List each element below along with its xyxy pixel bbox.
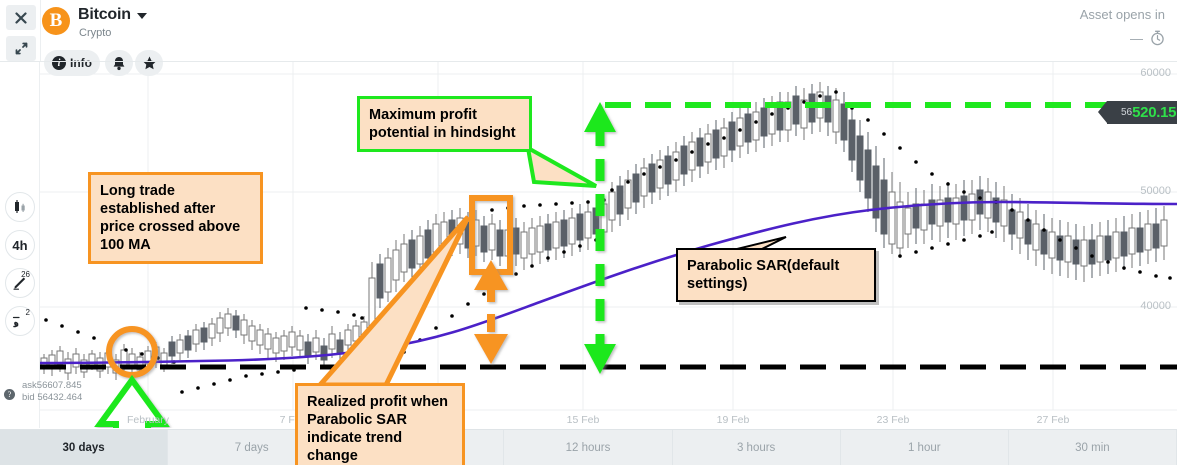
stopwatch-icon — [1150, 30, 1165, 46]
x-tick-19-feb: 19 Feb — [717, 414, 750, 426]
price-prefix: 56 — [1121, 107, 1132, 118]
bitcoin-logo-icon: B — [42, 7, 70, 35]
annotation-max-profit: Maximum profit potential in hindsight — [357, 96, 532, 152]
close-icon[interactable] — [6, 5, 36, 30]
timeframe-30-min[interactable]: 30 min — [1009, 430, 1177, 465]
chevron-down-icon[interactable] — [137, 13, 147, 19]
bid-label: bid — [22, 392, 35, 403]
annotation-realized-profit-text: Realized profit when Parabolic SAR indic… — [307, 394, 448, 464]
current-price-badge: 56 520.15 — [1107, 101, 1177, 124]
y-tick-40000: 40000 — [1140, 300, 1171, 312]
timeframe-bar: 30 days 7 days 1 day 12 hours 3 hours 1 … — [0, 429, 1177, 465]
info-button[interactable]: i Info — [44, 50, 100, 76]
x-tick-15-feb: 15 Feb — [567, 414, 600, 426]
x-tick-february: February — [127, 414, 169, 426]
trading-chart-window: B Bitcoin Crypto i Info Asset opens in — — [0, 0, 1177, 465]
ask-row: ask56607.845 — [13, 380, 82, 392]
asset-opens-value-group: — — [1130, 30, 1165, 46]
asset-name[interactable]: Bitcoin — [78, 6, 131, 24]
favorite-button[interactable] — [135, 50, 163, 76]
bid-row: bid 56432.464 — [13, 392, 82, 404]
window-header: B Bitcoin Crypto i Info Asset opens in — — [0, 0, 1177, 62]
timeframe-30-days[interactable]: 30 days — [0, 430, 168, 465]
annotation-realized-profit: Realized profit when Parabolic SAR indic… — [295, 383, 465, 465]
annotation-parabolic-sar: Parabolic SAR(default settings) — [676, 248, 876, 302]
annotation-long-trade: Long trade established after price cross… — [88, 172, 263, 264]
y-tick-50000: 50000 — [1140, 185, 1171, 197]
candlestick-icon — [12, 199, 28, 215]
price-value: 520.15 — [1132, 104, 1176, 121]
x-tick-27-feb: 27 Feb — [1037, 414, 1070, 426]
ask-value: 56607.845 — [37, 380, 82, 391]
help-icon[interactable]: ? — [4, 389, 15, 400]
collapse-icon[interactable] — [6, 36, 36, 61]
star-icon — [142, 56, 157, 70]
drawing-count-badge: 26 — [21, 270, 30, 279]
asset-opens-value: — — [1130, 31, 1143, 46]
annotation-long-trade-text: Long trade established after price cross… — [100, 183, 240, 253]
chart-type-button[interactable] — [5, 192, 35, 222]
annotation-parabolic-sar-text: Parabolic SAR(default settings) — [687, 258, 839, 292]
bell-icon — [112, 56, 126, 71]
asset-opens-label: Asset opens in — [1080, 7, 1165, 22]
alerts-button[interactable] — [105, 50, 133, 76]
timeframe-1-hour[interactable]: 1 hour — [841, 430, 1009, 465]
header-divider-vertical — [40, 0, 41, 62]
timeframe-button[interactable]: 4h — [5, 230, 35, 260]
chart-tools-sidebar: 4h 26 2 — [0, 62, 40, 428]
bid-value: 56432.464 — [37, 392, 82, 403]
ask-label: ask — [22, 380, 37, 391]
annotation-max-profit-text: Maximum profit potential in hindsight — [369, 107, 516, 141]
x-tick-23-feb: 23 Feb — [877, 414, 910, 426]
quote-readout: ? ask56607.845 bid 56432.464 — [13, 380, 82, 404]
drawing-tools-button[interactable]: 26 — [5, 268, 35, 298]
indicators-button[interactable]: 2 — [5, 306, 35, 336]
asset-type-label: Crypto — [79, 27, 111, 39]
y-tick-60000: 60000 — [1140, 67, 1171, 79]
header-divider — [0, 61, 1177, 62]
timeframe-12-hours[interactable]: 12 hours — [504, 430, 672, 465]
info-label: Info — [70, 56, 92, 70]
timeframe-3-hours[interactable]: 3 hours — [673, 430, 841, 465]
info-icon: i — [52, 56, 66, 70]
annotation-realized-profit-tail — [290, 195, 490, 395]
indicator-count-badge: 2 — [26, 308, 30, 317]
annotation-max-profit-tail — [524, 138, 604, 198]
